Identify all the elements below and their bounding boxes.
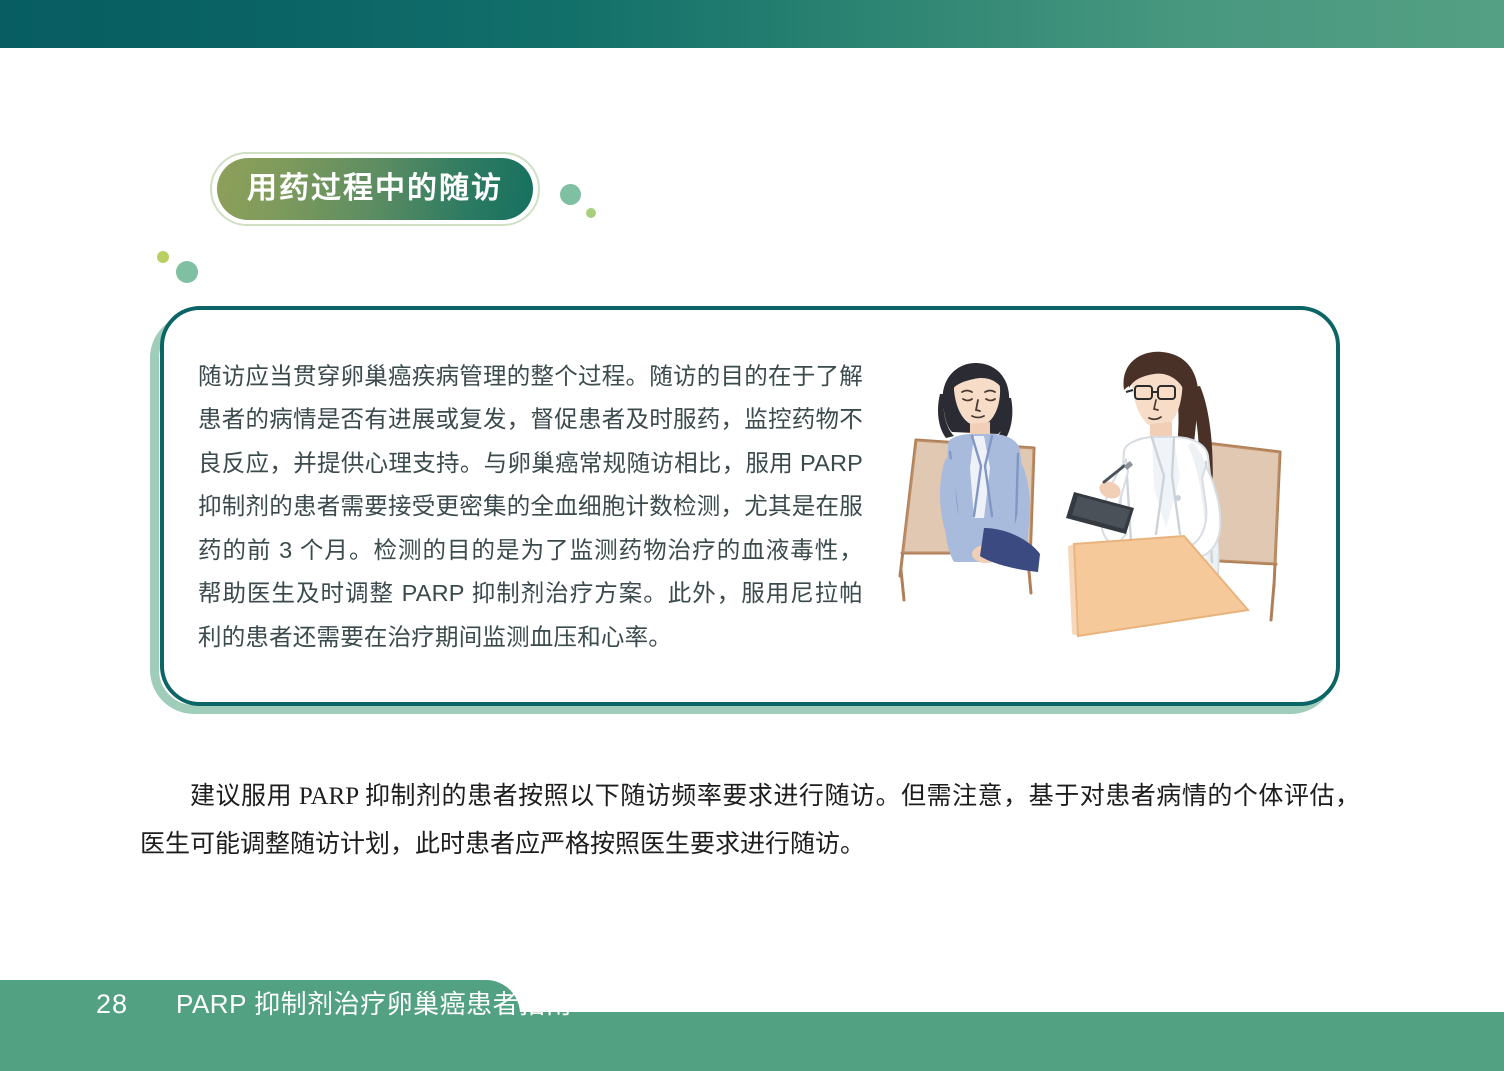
footer-content: 28 PARP 抑制剂治疗卵巢癌患者指南 [0, 980, 520, 1028]
top-decorative-bar [0, 0, 1504, 48]
section-title-pill: 用药过程中的随访 [217, 158, 533, 220]
page-number: 28 [96, 991, 128, 1018]
decorative-circle-small-icon [586, 208, 596, 218]
doctor-patient-consultation-illustration [888, 348, 1298, 658]
body-paragraph: 建议服用 PARP 抑制剂的患者按照以下随访频率要求进行随访。但需注意，基于对患… [140, 773, 1360, 869]
footer-book-title: PARP 抑制剂治疗卵巢癌患者指南 [176, 991, 572, 1017]
section-title-banner: 用药过程中的随访 [210, 152, 540, 226]
decorative-circle-small-icon [157, 251, 169, 263]
decorative-circle-icon [176, 261, 198, 283]
decorative-circle-icon [560, 184, 581, 205]
callout-text: 随访应当贯穿卵巢癌疾病管理的整个过程。随访的目的在于了解患者的病情是否有进展或复… [198, 355, 863, 660]
section-title-text: 用药过程中的随访 [247, 174, 503, 204]
